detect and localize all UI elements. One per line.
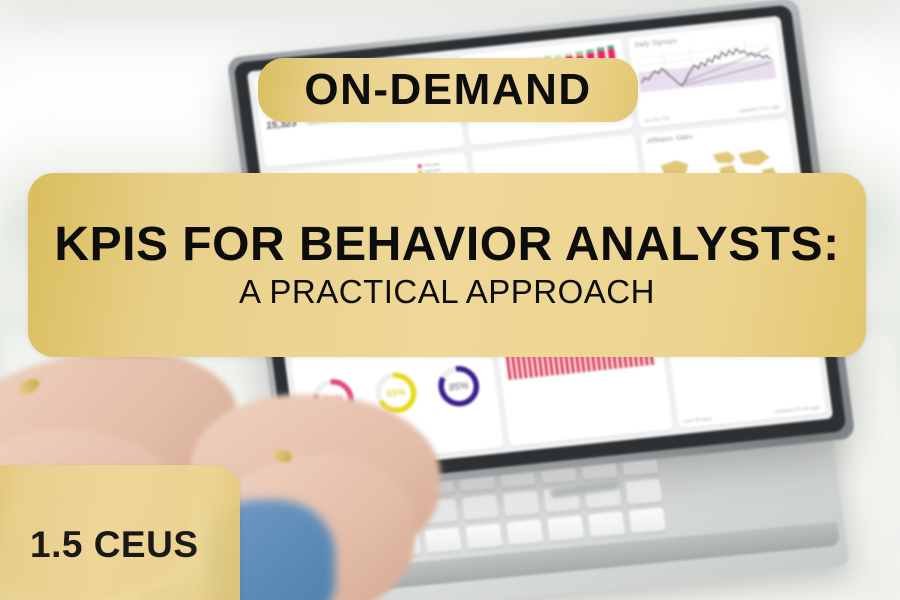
daily-signups-update: Updated 3 hrs ago (739, 104, 781, 114)
course-title: KPIS FOR BEHAVIOR ANALYSTS: (54, 220, 839, 270)
daily-signups-card: Daily Signups (627, 22, 786, 128)
ceus-label: 1.5 CEUS (30, 524, 199, 566)
on-demand-label: ON-DEMAND (304, 68, 591, 112)
ceus-badge: 1.5 CEUS (0, 465, 240, 600)
donut-quarterly-value: 69% (386, 387, 407, 400)
donut-annual: 85% (433, 361, 485, 413)
sales-by-product-footer: Last 30 days (684, 416, 713, 425)
daily-signups-footer-value: 20.1% YTD (644, 116, 670, 125)
title-banner: KPIS FOR BEHAVIOR ANALYSTS: A PRACTICAL … (28, 173, 866, 357)
donut-annual-value: 85% (448, 381, 469, 394)
sales-by-product-update: Updated 25 min ago (774, 405, 820, 416)
course-subtitle: A PRACTICAL APPROACH (239, 274, 655, 310)
on-demand-badge: ON-DEMAND (258, 58, 638, 122)
donut-ring: 85% (433, 361, 485, 411)
